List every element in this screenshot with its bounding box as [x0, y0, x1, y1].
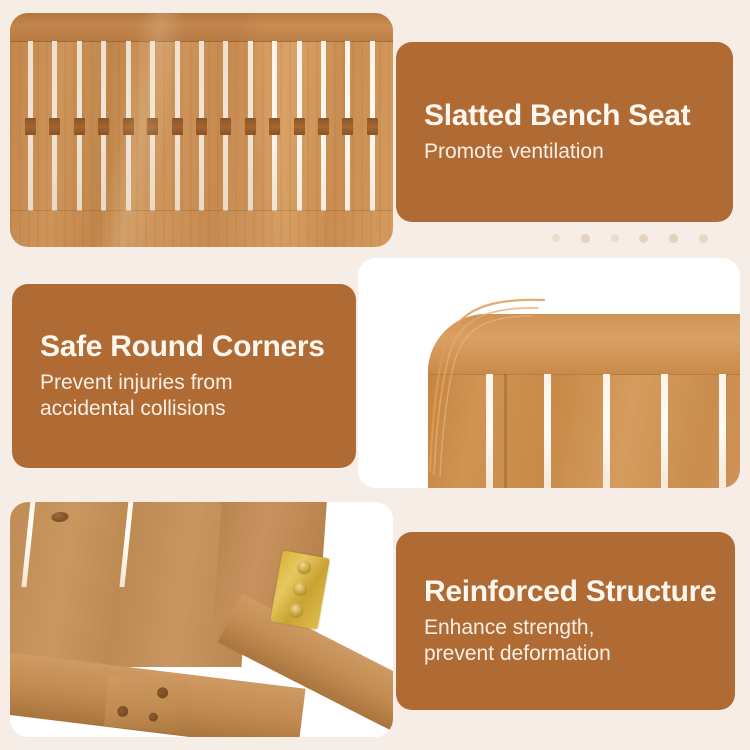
seat-slot: [150, 41, 155, 211]
feature-subtitle-line: Promote ventilation: [424, 139, 733, 165]
seat-slot: [126, 41, 131, 211]
dot-icon: [699, 234, 708, 243]
feature-subtitle-line: prevent deformation: [424, 641, 735, 667]
seat-slot: [223, 41, 228, 211]
wood-back-panel: [10, 502, 250, 667]
seat-slot: [175, 41, 180, 211]
feature-subtitle: Prevent injuries from accidental collisi…: [40, 370, 356, 423]
decorative-dots: [552, 231, 708, 245]
feature-panel-slatted-bench-seat: Slatted Bench Seat Promote ventilation: [396, 42, 733, 222]
screw-icon: [292, 581, 308, 597]
seat-bottom-rail: [10, 210, 393, 247]
dot-icon: [611, 234, 619, 242]
seat-top-rail: [10, 13, 393, 42]
feature-subtitle: Promote ventilation: [424, 139, 733, 165]
feature-subtitle: Enhance strength, prevent deformation: [424, 615, 735, 668]
seat-slot: [272, 41, 277, 211]
drill-hole-icon: [117, 705, 129, 717]
seat-slot: [297, 41, 302, 211]
feature-title: Reinforced Structure: [424, 575, 735, 610]
back-panel-slot: [119, 502, 133, 587]
back-panel-slot: [21, 502, 35, 587]
feature-subtitle-line: accidental collisions: [40, 396, 356, 422]
rounded-corner-closeup-photo: [358, 258, 740, 488]
drill-hole-icon: [149, 712, 159, 722]
dot-icon: [552, 234, 560, 242]
seat-slot: [52, 41, 57, 211]
backrest-slot: [603, 374, 610, 488]
seat-slot: [248, 41, 253, 211]
feature-subtitle-line: Prevent injuries from: [40, 370, 356, 396]
corner-joint-bracket-photo: [10, 502, 393, 737]
screw-icon: [296, 559, 312, 575]
feature-title: Safe Round Corners: [40, 330, 356, 365]
slatted-bench-seat-photo: [10, 13, 393, 247]
wood-support-block: [104, 675, 190, 734]
dot-icon: [639, 234, 648, 243]
seat-slot-group: [10, 41, 393, 211]
wood-corner-top-rail: [428, 314, 740, 375]
feature-panel-reinforced-structure: Reinforced Structure Enhance strength, p…: [396, 532, 735, 710]
drill-hole-icon: [157, 687, 169, 699]
dot-icon: [581, 234, 590, 243]
seat-slot: [199, 41, 204, 211]
backrest-slot: [719, 374, 726, 488]
seat-slot: [345, 41, 350, 211]
seat-slot: [28, 41, 33, 211]
seat-slot: [321, 41, 326, 211]
backrest-slot-group: [486, 374, 740, 488]
backrest-slot: [544, 374, 551, 488]
backrest-slot: [486, 374, 493, 488]
backrest-slot: [661, 374, 668, 488]
feature-panel-safe-round-corners: Safe Round Corners Prevent injuries from…: [12, 284, 356, 468]
screw-icon: [288, 603, 304, 619]
infographic-canvas: Slatted Bench Seat Promote ventilation S…: [0, 0, 750, 750]
dot-icon: [669, 234, 678, 243]
feature-subtitle-line: Enhance strength,: [424, 615, 735, 641]
seat-slot: [77, 41, 82, 211]
feature-title: Slatted Bench Seat: [424, 99, 733, 134]
seat-slot: [370, 41, 375, 211]
seat-slot: [101, 41, 106, 211]
